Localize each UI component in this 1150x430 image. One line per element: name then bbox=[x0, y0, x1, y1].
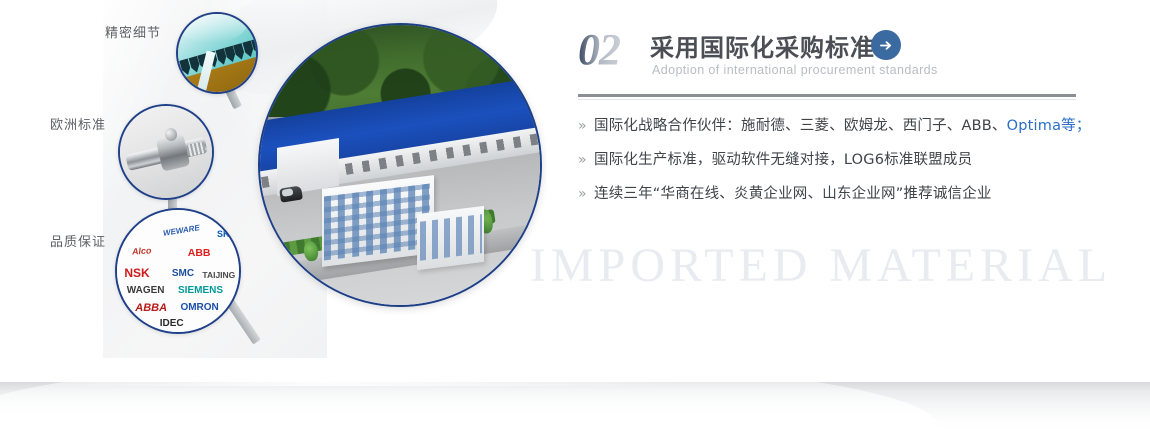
precision-detail-photo bbox=[176, 12, 258, 94]
floor-highlight-line bbox=[40, 381, 680, 386]
brand-logo: TAIJING bbox=[202, 271, 235, 280]
chevron-right-icon: » bbox=[578, 116, 594, 136]
brand-logo: SIEMENS bbox=[178, 286, 223, 296]
list-item-text-plain: 连续三年“华商在线、炎黄企业网、山东企业网”推荐诚信企业 bbox=[594, 186, 992, 202]
brand-logo: ABBA bbox=[135, 303, 167, 314]
brand-logo: NSK bbox=[124, 267, 149, 279]
brand-logo: ABB bbox=[188, 248, 211, 259]
factory-side-wing bbox=[277, 138, 339, 195]
divider-line-thick bbox=[578, 94, 1076, 97]
brand-logo: Alco bbox=[131, 246, 151, 256]
landscape-tree bbox=[302, 240, 319, 262]
brand-logo: OMRON bbox=[180, 303, 218, 313]
chevron-right-icon: » bbox=[578, 150, 594, 170]
brand-logo: SKF bbox=[217, 230, 235, 239]
hero-banner: 精密细节 欧洲标准 品质保证 WEWARESKFAlcoABBNSKSMCTAI… bbox=[0, 0, 1150, 430]
brand-logo: IDEC bbox=[160, 319, 184, 329]
list-item: »国际化战略合作伙伴：施耐德、三菱、欧姆龙、西门子、ABB、Optima等； bbox=[578, 116, 1078, 136]
list-item: »国际化生产标准，驱动软件无缝对接，LOG6标准联盟成员 bbox=[578, 150, 1078, 170]
feature-bullet-list: »国际化战略合作伙伴：施耐德、三菱、欧姆龙、西门子、ABB、Optima等；»国… bbox=[578, 116, 1078, 218]
list-item-text: 国际化生产标准，驱动软件无缝对接，LOG6标准联盟成员 bbox=[594, 150, 972, 170]
list-item-text: 国际化战略合作伙伴：施耐德、三菱、欧姆龙、西门子、ABB、Optima等； bbox=[594, 116, 1091, 136]
brand-logo: WEWARE bbox=[163, 224, 201, 238]
floor-curve-highlight bbox=[0, 358, 940, 428]
quality-assurance-logos: WEWARESKFAlcoABBNSKSMCTAIJINGWAGENSIEMEN… bbox=[115, 208, 241, 334]
arrow-right-icon bbox=[879, 38, 894, 53]
content-column: 02 采用国际化采购标准 Adoption of international p… bbox=[578, 24, 1088, 90]
list-item: »连续三年“华商在线、炎黄企业网、山东企业网”推荐诚信企业 bbox=[578, 184, 1078, 204]
supplier-logo-cluster: WEWARESKFAlcoABBNSKSMCTAIJINGWAGENSIEMEN… bbox=[117, 210, 239, 332]
brand-logo: SMC bbox=[172, 269, 194, 279]
arrow-right-button[interactable] bbox=[871, 30, 901, 60]
watermark-text: IMPORTED MATERIAL bbox=[530, 238, 1112, 293]
divider-line-thin bbox=[578, 99, 1076, 100]
chevron-right-icon: » bbox=[578, 184, 594, 204]
brand-logo: WAGEN bbox=[127, 286, 165, 296]
section-header: 02 采用国际化采购标准 Adoption of international p… bbox=[578, 24, 1088, 90]
office-windows-main bbox=[324, 184, 430, 261]
factory-aerial-photo bbox=[258, 23, 542, 307]
page-subtitle: Adoption of international procurement st… bbox=[652, 63, 938, 77]
landscape-tree bbox=[278, 248, 294, 266]
feature-label-european-standard: 欧洲标准 bbox=[50, 114, 106, 133]
section-number: 02 bbox=[578, 24, 620, 75]
header-divider bbox=[578, 94, 1076, 100]
office-windows-annex bbox=[420, 214, 482, 261]
feature-label-precision: 精密细节 bbox=[105, 22, 161, 41]
european-standard-photo bbox=[118, 104, 214, 200]
list-item-text-plain: 国际化生产标准，驱动软件无缝对接，LOG6标准联盟成员 bbox=[594, 152, 972, 168]
list-item-text-plain: 国际化战略合作伙伴：施耐德、三菱、欧姆龙、西门子、ABB、 bbox=[594, 118, 1007, 134]
page-title: 采用国际化采购标准 bbox=[650, 28, 875, 63]
feature-label-quality: 品质保证 bbox=[50, 231, 106, 250]
list-item-text-highlight: Optima等； bbox=[1007, 118, 1091, 134]
list-item-text: 连续三年“华商在线、炎黄企业网、山东企业网”推荐诚信企业 bbox=[594, 184, 992, 204]
